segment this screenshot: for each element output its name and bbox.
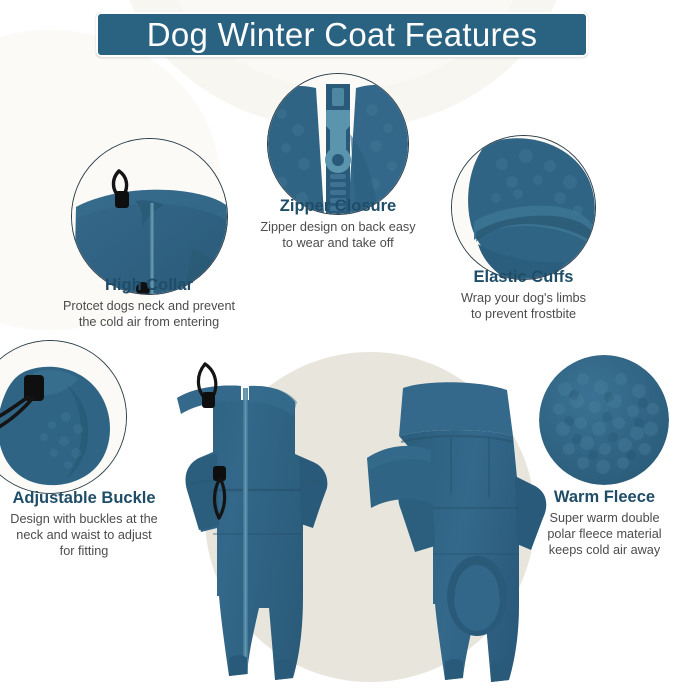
feature-description: Protcet dogs neck and prevent the cold a… — [33, 299, 265, 331]
feature-description: Super warm double polar fleece material … — [530, 511, 679, 559]
feature-description: Design with buckles at the neck and wais… — [0, 512, 174, 560]
collar-closeup-icon — [72, 139, 227, 294]
feature-adjustable-buckle: Adjustable Buckle Design with buckles at… — [0, 489, 174, 560]
feature-description: Wrap your dog's limbs to prevent frostbi… — [432, 291, 615, 323]
dog-coat-back-view-image — [355, 358, 551, 690]
infographic-canvas: Dog Winter Coat Features High Collar Pr — [0, 0, 679, 691]
dog-coat-front-view-image — [163, 358, 353, 690]
feature-high-collar: High Collar Protcet dogs neck and preven… — [33, 276, 265, 331]
feature-warm-fleece: Warm Fleece Super warm double polar flee… — [530, 488, 679, 559]
cuff-closeup-icon — [452, 136, 595, 279]
buckle-closeup-icon — [0, 341, 126, 493]
feature-elastic-cuffs: Elastic Cuffs Wrap your dog's limbs to p… — [432, 268, 615, 323]
feature-title: High Collar — [33, 276, 265, 295]
page-title-bar: Dog Winter Coat Features — [96, 12, 588, 57]
feature-title: Zipper Closure — [236, 197, 440, 216]
feature-title: Adjustable Buckle — [0, 489, 174, 508]
page-title: Dog Winter Coat Features — [147, 18, 538, 51]
fleece-texture-icon — [539, 355, 669, 485]
feature-title: Warm Fleece — [530, 488, 679, 507]
feature-zipper-closure: Zipper Closure Zipper design on back eas… — [236, 197, 440, 252]
feature-description: Zipper design on back easy to wear and t… — [236, 220, 440, 252]
feature-title: Elastic Cuffs — [432, 268, 615, 287]
zipper-closeup-icon — [268, 74, 408, 214]
